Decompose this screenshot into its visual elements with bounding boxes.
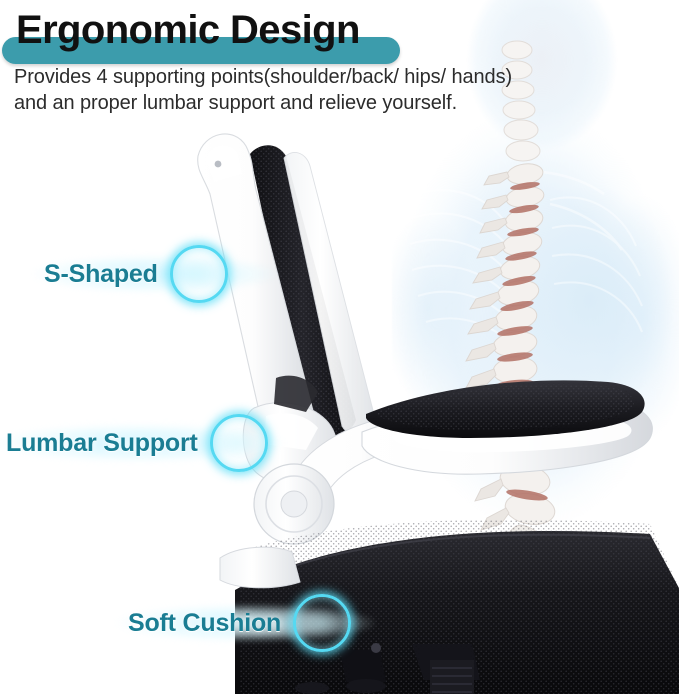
subtitle-text: Provides 4 supporting points(shoulder/ba… — [14, 64, 594, 117]
chair-armrest — [362, 380, 652, 474]
callout-lumbar-support: Lumbar Support — [6, 414, 268, 472]
ribcage-outline — [400, 160, 660, 460]
subtitle-line-2: and an proper lumbar support and relieve… — [14, 90, 594, 116]
armrest-pivot-joint — [254, 464, 334, 544]
page-title: Ergonomic Design — [16, 10, 360, 50]
shoulder-shading — [470, 150, 679, 480]
armrest-support-arm — [292, 412, 446, 504]
subtitle-line-1: Provides 4 supporting points(shoulder/ba… — [14, 64, 594, 90]
seat-front-trim — [220, 547, 300, 588]
callout-label-lumbar-support: Lumbar Support — [6, 429, 198, 458]
infographic-canvas: Ergonomic Design Provides 4 supporting p… — [0, 0, 679, 694]
glow-ring-marker-icon — [210, 414, 268, 472]
chair-frame-back-right — [284, 152, 376, 435]
header-block: Ergonomic Design Provides 4 supporting p… — [0, 0, 679, 120]
callout-s-shaped: S-Shaped — [44, 245, 228, 303]
callout-label-s-shaped: S-Shaped — [44, 260, 158, 289]
glow-ring-marker-icon — [293, 594, 351, 652]
callout-label-soft-cushion: Soft Cushion — [128, 609, 281, 638]
frame-screw-top — [215, 161, 222, 168]
armrest-pad — [366, 380, 645, 438]
callout-soft-cushion: Soft Cushion — [128, 594, 351, 652]
glow-ring-marker-icon — [170, 245, 228, 303]
